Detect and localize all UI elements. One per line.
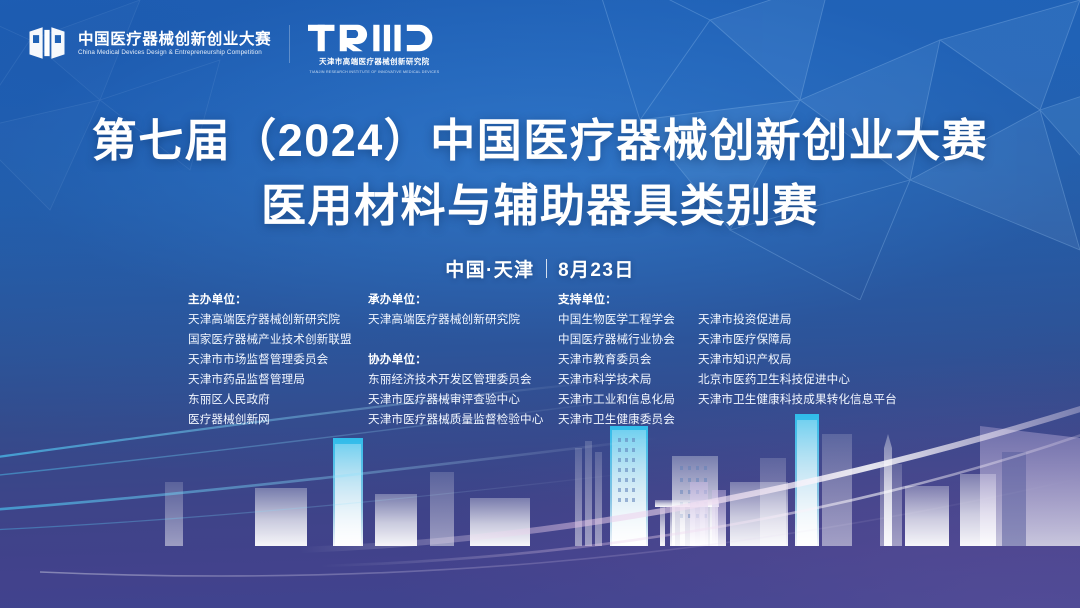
- column-spacer: [368, 330, 558, 350]
- host-item: 国家医疗器械产业技术创新联盟: [188, 330, 368, 350]
- open-door-book-logo-icon: [26, 22, 68, 64]
- event-location: 中国·天津: [445, 255, 534, 282]
- organizer-column: 承办单位： 天津高端医疗器械创新研究院 协办单位： 东丽经济技术开发区管理委员会…: [368, 290, 558, 430]
- supporter-item: 天津市医疗保障局: [698, 330, 898, 350]
- host-item: 天津高端医疗器械创新研究院: [188, 310, 368, 330]
- organizer-item: 天津高端医疗器械创新研究院: [368, 310, 558, 330]
- supporters-subcolumn-right: 天津市投资促进局 天津市医疗保障局 天津市知识产权局 北京市医药卫生科技促进中心…: [698, 310, 898, 430]
- host-item: 医疗器械创新网: [188, 410, 368, 430]
- institute-logo: 天津市高端医疗器械创新研究院 TIANJIN RESEARCH INSTITUT…: [308, 22, 440, 74]
- competition-logo-cn: 中国医疗器械创新创业大赛: [78, 32, 271, 48]
- main-title-line-2: 医用材料与辅助器具类别赛: [0, 177, 1080, 236]
- supporter-item: 天津市教育委员会: [558, 350, 687, 370]
- header-logos: 中国医疗器械创新创业大赛 China Medical Devices Desig…: [26, 22, 441, 74]
- host-item: 天津市市场监督管理委员会: [188, 350, 368, 370]
- supporter-item: 天津市知识产权局: [698, 350, 898, 370]
- supporter-item: 天津市工业和信息化局: [558, 390, 687, 410]
- triid-wordmark-icon: [308, 23, 440, 53]
- logo-divider: [289, 25, 290, 63]
- event-date: 8月23日: [558, 255, 635, 282]
- supporter-item: 天津市投资促进局: [698, 310, 898, 330]
- coorganizer-item: 天津市医疗器械审评查验中心: [368, 390, 558, 410]
- supporters-column: 支持单位： 中国生物医学工程学会 中国医疗器械行业协会 天津市教育委员会 天津市…: [558, 290, 898, 430]
- host-item: 东丽区人民政府: [188, 390, 368, 410]
- supporter-item: 中国生物医学工程学会: [558, 310, 687, 330]
- supporter-item: 北京市医药卫生科技促进中心: [698, 370, 898, 390]
- meta-separator: [546, 259, 548, 278]
- institute-logo-en: TIANJIN RESEARCH INSTITUTE OF INNOVATIVE…: [309, 70, 439, 74]
- event-meta: 中国·天津 8月23日: [445, 255, 635, 282]
- title-block: 第七届（2024）中国医疗器械创新创业大赛 医用材料与辅助器具类别赛 中国·天津…: [0, 112, 1080, 282]
- supporters-heading: 支持单位：: [558, 290, 898, 310]
- supporter-item: 中国医疗器械行业协会: [558, 330, 687, 350]
- organizations-block: 主办单位： 天津高端医疗器械创新研究院 国家医疗器械产业技术创新联盟 天津市市场…: [188, 290, 898, 430]
- conference-poster: 中国医疗器械创新创业大赛 China Medical Devices Desig…: [0, 0, 1080, 608]
- coorganizer-item: 天津市医疗器械质量监督检验中心: [368, 410, 558, 430]
- competition-logo-en: China Medical Devices Design & Entrepren…: [78, 50, 271, 57]
- coorganizer-heading: 协办单位：: [368, 350, 558, 370]
- institute-logo-cn: 天津市高端医疗器械创新研究院: [319, 56, 429, 67]
- supporter-item: 天津市卫生健康科技成果转化信息平台: [698, 390, 898, 410]
- host-heading: 主办单位：: [188, 290, 368, 310]
- supporter-item: 天津市科学技术局: [558, 370, 687, 390]
- main-title-line-1: 第七届（2024）中国医疗器械创新创业大赛: [0, 112, 1080, 171]
- supporter-item: 天津市卫生健康委员会: [558, 410, 687, 430]
- competition-logo: 中国医疗器械创新创业大赛 China Medical Devices Desig…: [26, 22, 271, 64]
- host-item: 天津市药品监督管理局: [188, 370, 368, 390]
- organizer-heading: 承办单位：: [368, 290, 558, 310]
- coorganizer-item: 东丽经济技术开发区管理委员会: [368, 370, 558, 390]
- host-column: 主办单位： 天津高端医疗器械创新研究院 国家医疗器械产业技术创新联盟 天津市市场…: [188, 290, 368, 430]
- supporters-subcolumn-left: 中国生物医学工程学会 中国医疗器械行业协会 天津市教育委员会 天津市科学技术局 …: [558, 310, 687, 430]
